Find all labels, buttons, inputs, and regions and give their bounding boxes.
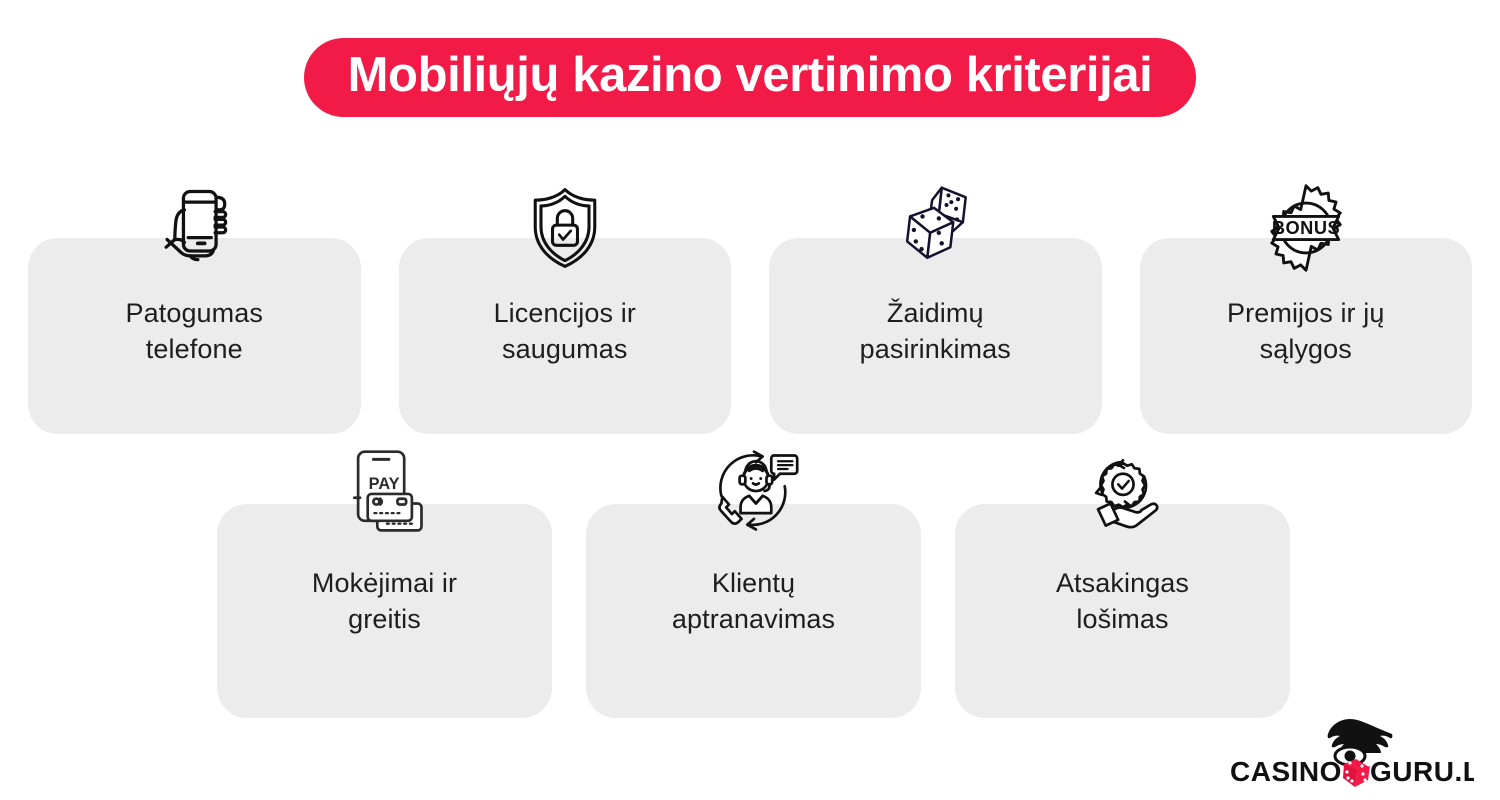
criteria-card-licencijos-ir-saugumas[interactable]: Licencijos ir saugumas bbox=[399, 238, 732, 434]
dice-pair-icon bbox=[887, 180, 983, 276]
page-title: Mobiliųjų kazino vertinimo kriterijai bbox=[348, 48, 1153, 103]
criteria-card-patogumas-telefone[interactable]: Patogumas telefone bbox=[28, 238, 361, 434]
bonus-badge-icon: BONUS bbox=[1258, 180, 1354, 276]
red-die-icon bbox=[1343, 759, 1370, 787]
casino-guru-logo[interactable]: CASINO GURU.LT bbox=[1226, 714, 1474, 788]
logo-text-left: CASINO bbox=[1230, 756, 1342, 787]
criteria-card-klientu-aptranavimas[interactable]: Klientų aptranavimas bbox=[586, 504, 921, 718]
criteria-card-mokejimai-ir-greitis[interactable]: PAY Mokėjimai ir greiti bbox=[217, 504, 552, 718]
criteria-card-label: Premijos ir jų sąlygos bbox=[1213, 296, 1398, 368]
shield-lock-check-icon bbox=[517, 180, 613, 276]
title-badge: Mobiliųjų kazino vertinimo kriterijai bbox=[304, 38, 1197, 117]
hand-gear-check-icon bbox=[1075, 444, 1171, 540]
criteria-card-label: Licencijos ir saugumas bbox=[480, 296, 650, 368]
support-agent-icon bbox=[706, 444, 802, 540]
logo-text-right: GURU.LT bbox=[1370, 756, 1474, 787]
hand-holding-phone-icon bbox=[146, 180, 242, 276]
criteria-row-2: PAY Mokėjimai ir greiti bbox=[217, 504, 1290, 718]
phone-pay-cards-icon: PAY bbox=[337, 444, 433, 540]
criteria-card-label: Žaidimų pasirinkimas bbox=[846, 296, 1025, 368]
bonus-banner-text: BONUS bbox=[1272, 217, 1340, 238]
criteria-card-premijos-ir-ju-salygos[interactable]: BONUS Premijos ir jų sąlygos bbox=[1140, 238, 1473, 434]
title-container: Mobiliųjų kazino vertinimo kriterijai bbox=[0, 38, 1500, 117]
criteria-card-label: Mokėjimai ir greitis bbox=[298, 566, 471, 638]
criteria-card-atsakingas-losimas[interactable]: Atsakingas lošimas bbox=[955, 504, 1290, 718]
criteria-card-zaidimu-pasirinkimas[interactable]: Žaidimų pasirinkimas bbox=[769, 238, 1102, 434]
infographic-page: Mobiliųjų kazino vertinimo kriterijai bbox=[0, 0, 1500, 800]
phone-pay-text: PAY bbox=[368, 475, 399, 493]
criteria-card-label: Patogumas telefone bbox=[112, 296, 277, 368]
criteria-card-label: Klientų aptranavimas bbox=[658, 566, 849, 638]
criteria-card-label: Atsakingas lošimas bbox=[1042, 566, 1203, 638]
criteria-row-1: Patogumas telefone Licencijos ir sauguma… bbox=[28, 238, 1472, 434]
